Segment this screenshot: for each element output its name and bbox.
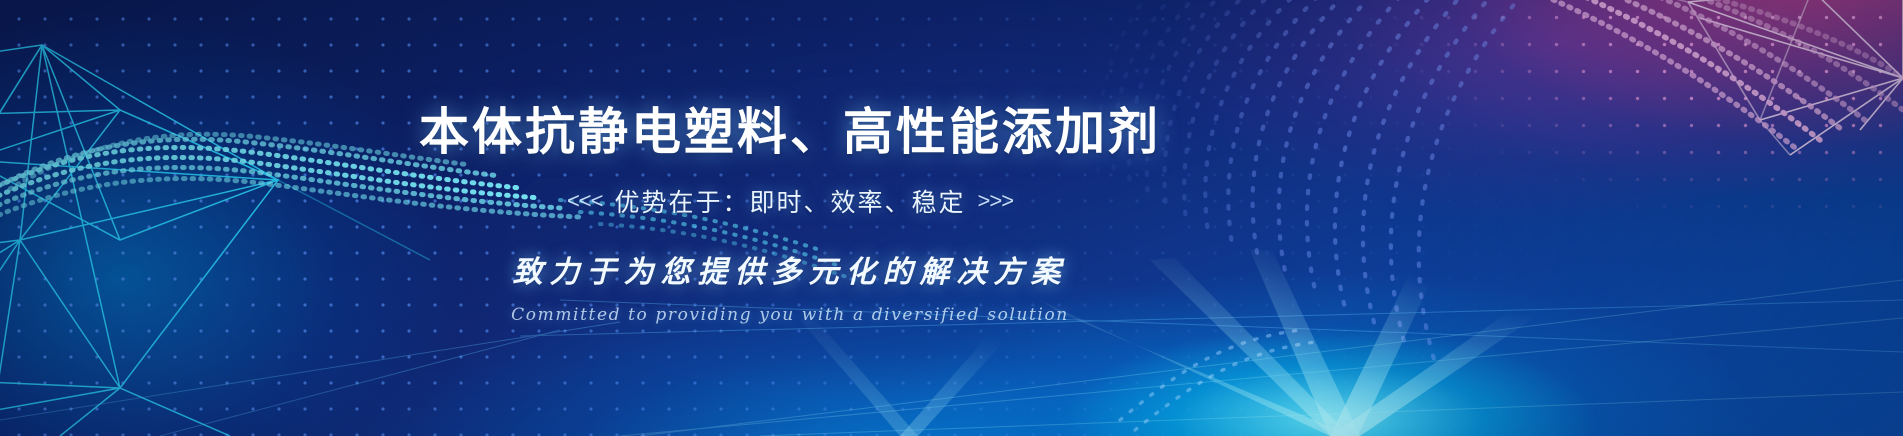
page-title: 本体抗静电塑料、高性能添加剂 bbox=[419, 107, 1161, 157]
slogan-english: Committed to providing you with a divers… bbox=[511, 305, 1069, 325]
slogan-script: 致力于为您提供多元化的解决方案 bbox=[513, 247, 1068, 291]
chevrons-right-icon: >>> bbox=[978, 188, 1014, 214]
chevrons-left-icon: <<< bbox=[567, 188, 603, 214]
subtitle-text: 优势在于：即时、效率、稳定 bbox=[614, 183, 965, 219]
banner-text-block: 本体抗静电塑料、高性能添加剂 <<< 优势在于：即时、效率、稳定 >>> 致力于… bbox=[0, 0, 1580, 436]
subtitle-row: <<< 优势在于：即时、效率、稳定 >>> bbox=[567, 183, 1013, 219]
hero-banner: 本体抗静电塑料、高性能添加剂 <<< 优势在于：即时、效率、稳定 >>> 致力于… bbox=[0, 0, 1903, 436]
